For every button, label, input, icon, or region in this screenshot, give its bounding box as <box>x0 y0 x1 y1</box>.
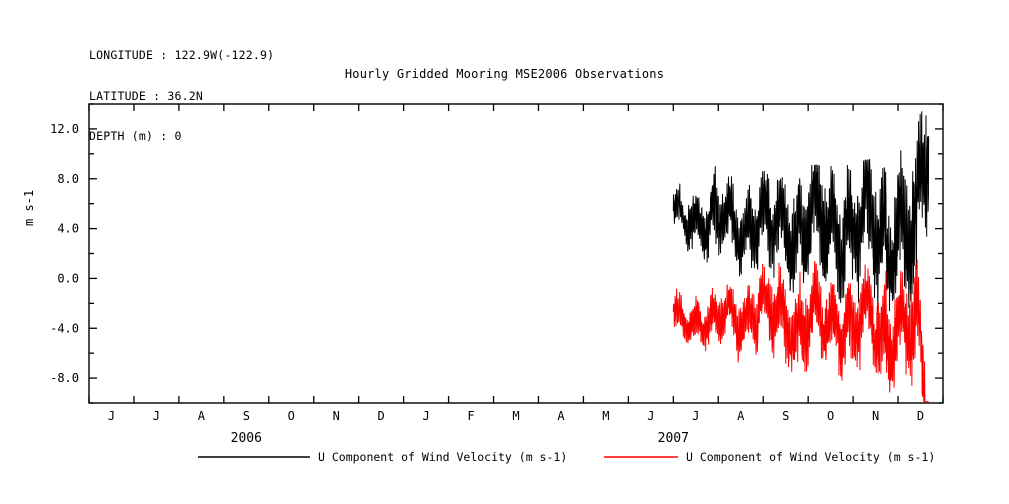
y-tick-label: 8.0 <box>57 172 79 186</box>
x-tick-label: N <box>333 409 340 423</box>
x-tick-label: J <box>108 409 115 423</box>
x-tick-label: D <box>917 409 924 423</box>
x-tick-label: D <box>378 409 385 423</box>
x-tick-label: S <box>243 409 250 423</box>
chart-plot-area: 12.08.04.00.0-4.0-8.0JJASONDJFMAMJJASOND… <box>0 0 1009 504</box>
x-tick-label: O <box>288 409 295 423</box>
x-tick-label: M <box>602 409 609 423</box>
x-axis-year-label: 2007 <box>658 431 689 446</box>
x-tick-label: F <box>467 409 474 423</box>
x-axis-year-label: 2006 <box>231 431 262 446</box>
legend-label-black: U Component of Wind Velocity (m s-1) <box>318 450 567 464</box>
x-tick-label: J <box>422 409 429 423</box>
y-tick-label: 0.0 <box>57 271 79 285</box>
x-tick-label: S <box>782 409 789 423</box>
x-tick-label: O <box>827 409 834 423</box>
x-tick-label: A <box>737 409 745 423</box>
legend-label-red: U Component of Wind Velocity (m s-1) <box>686 450 935 464</box>
y-tick-label: -4.0 <box>50 321 79 335</box>
y-tick-label: -8.0 <box>50 371 79 385</box>
x-tick-label: A <box>198 409 206 423</box>
x-tick-label: N <box>872 409 879 423</box>
x-tick-label: A <box>557 409 565 423</box>
x-tick-label: J <box>692 409 699 423</box>
y-tick-label: 12.0 <box>50 122 79 136</box>
x-tick-label: M <box>512 409 519 423</box>
y-tick-label: 4.0 <box>57 222 79 236</box>
data-series-black <box>673 111 928 314</box>
x-tick-label: J <box>647 409 654 423</box>
x-tick-label: J <box>153 409 160 423</box>
plot-frame <box>89 104 943 403</box>
